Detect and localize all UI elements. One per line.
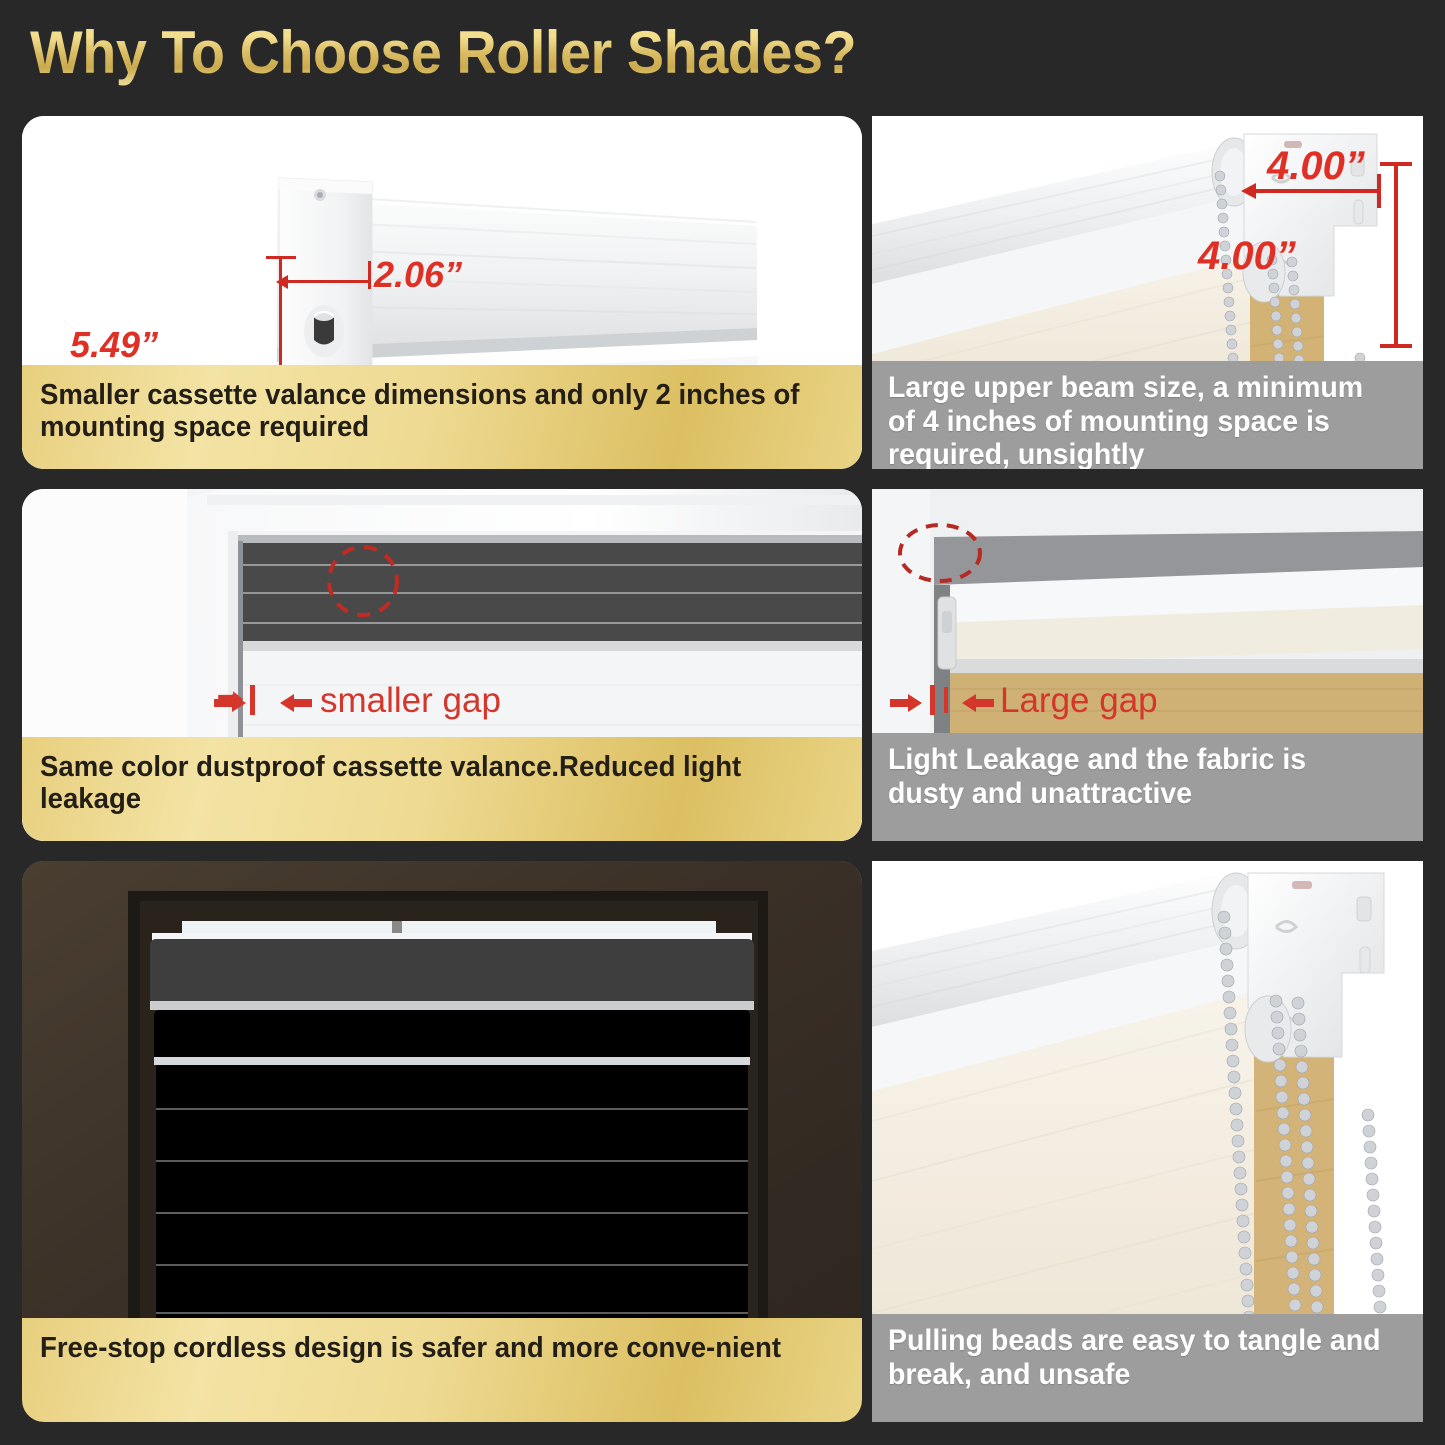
smaller-gap-label: smaller gap <box>320 681 501 721</box>
width-dimension-tick <box>368 261 371 289</box>
smaller-gap-arrows <box>212 685 332 719</box>
caption-text: Pulling beads are easy to tangle and bre… <box>888 1324 1383 1391</box>
caption-text: Light Leakage and the fabric is dusty an… <box>888 743 1383 810</box>
caption-text: Large upper beam size, a minimum of 4 in… <box>888 371 1383 469</box>
panel-caption-light-leakage: Light Leakage and the fabric is dusty an… <box>872 733 1423 841</box>
panel-caption-free-stop-cordless: Free-stop cordless design is safer and m… <box>22 1318 862 1422</box>
panel-pulling-beads-unsafe: Pulling beads are easy to tangle and bre… <box>872 861 1423 1422</box>
beam-width-tick-right <box>1377 174 1381 208</box>
large-gap-arrows <box>888 685 1008 719</box>
width-dimension-line <box>280 280 370 283</box>
panel-dustproof-cassette-valance: smaller gap Same color dustproof cassett… <box>22 489 862 841</box>
width-dimension-label: 2.06” <box>374 254 462 296</box>
beam-height-tick-bottom <box>1380 344 1412 348</box>
beam-height-dimension-line <box>1394 162 1398 348</box>
width-dimension-arrow-left <box>272 272 292 292</box>
height-dimension-label: 5.49” <box>70 324 158 366</box>
beam-width-arrow-left <box>1238 180 1258 202</box>
caption-text: Free-stop cordless design is safer and m… <box>40 1332 804 1364</box>
beam-width-dimension-line <box>1248 189 1380 193</box>
height-dimension-tick-top <box>266 256 296 259</box>
panel-cassette-valance-dimensions: 2.06” 5.49” Smaller cassette valance dim… <box>22 116 862 469</box>
panel-large-upper-beam: 4.00” 4.00” Large upper beam size, a min… <box>872 116 1423 469</box>
caption-text: Smaller cassette valance dimensions and … <box>40 379 804 444</box>
infographic-root: Why To Choose Roller Shades? <box>0 0 1445 1445</box>
large-gap-label: Large gap <box>1000 681 1158 721</box>
panel-caption-dustproof-valance: Same color dustproof cassette valance.Re… <box>22 737 862 841</box>
panel-free-stop-cordless: Free-stop cordless design is safer and m… <box>22 861 862 1422</box>
page-title: Why To Choose Roller Shades? <box>30 18 856 87</box>
caption-text: Same color dustproof cassette valance.Re… <box>40 751 804 816</box>
panel-caption-large-upper-beam: Large upper beam size, a minimum of 4 in… <box>872 361 1423 469</box>
panel-light-leakage-dusty-fabric: Large gap Light Leakage and the fabric i… <box>872 489 1423 841</box>
beam-height-tick-top <box>1380 162 1412 166</box>
beam-height-dimension-label: 4.00” <box>1198 234 1296 279</box>
beam-width-dimension-label: 4.00” <box>1267 144 1365 189</box>
panel-caption-pulling-beads: Pulling beads are easy to tangle and bre… <box>872 1314 1423 1422</box>
panel-caption-cassette-valance: Smaller cassette valance dimensions and … <box>22 365 862 469</box>
